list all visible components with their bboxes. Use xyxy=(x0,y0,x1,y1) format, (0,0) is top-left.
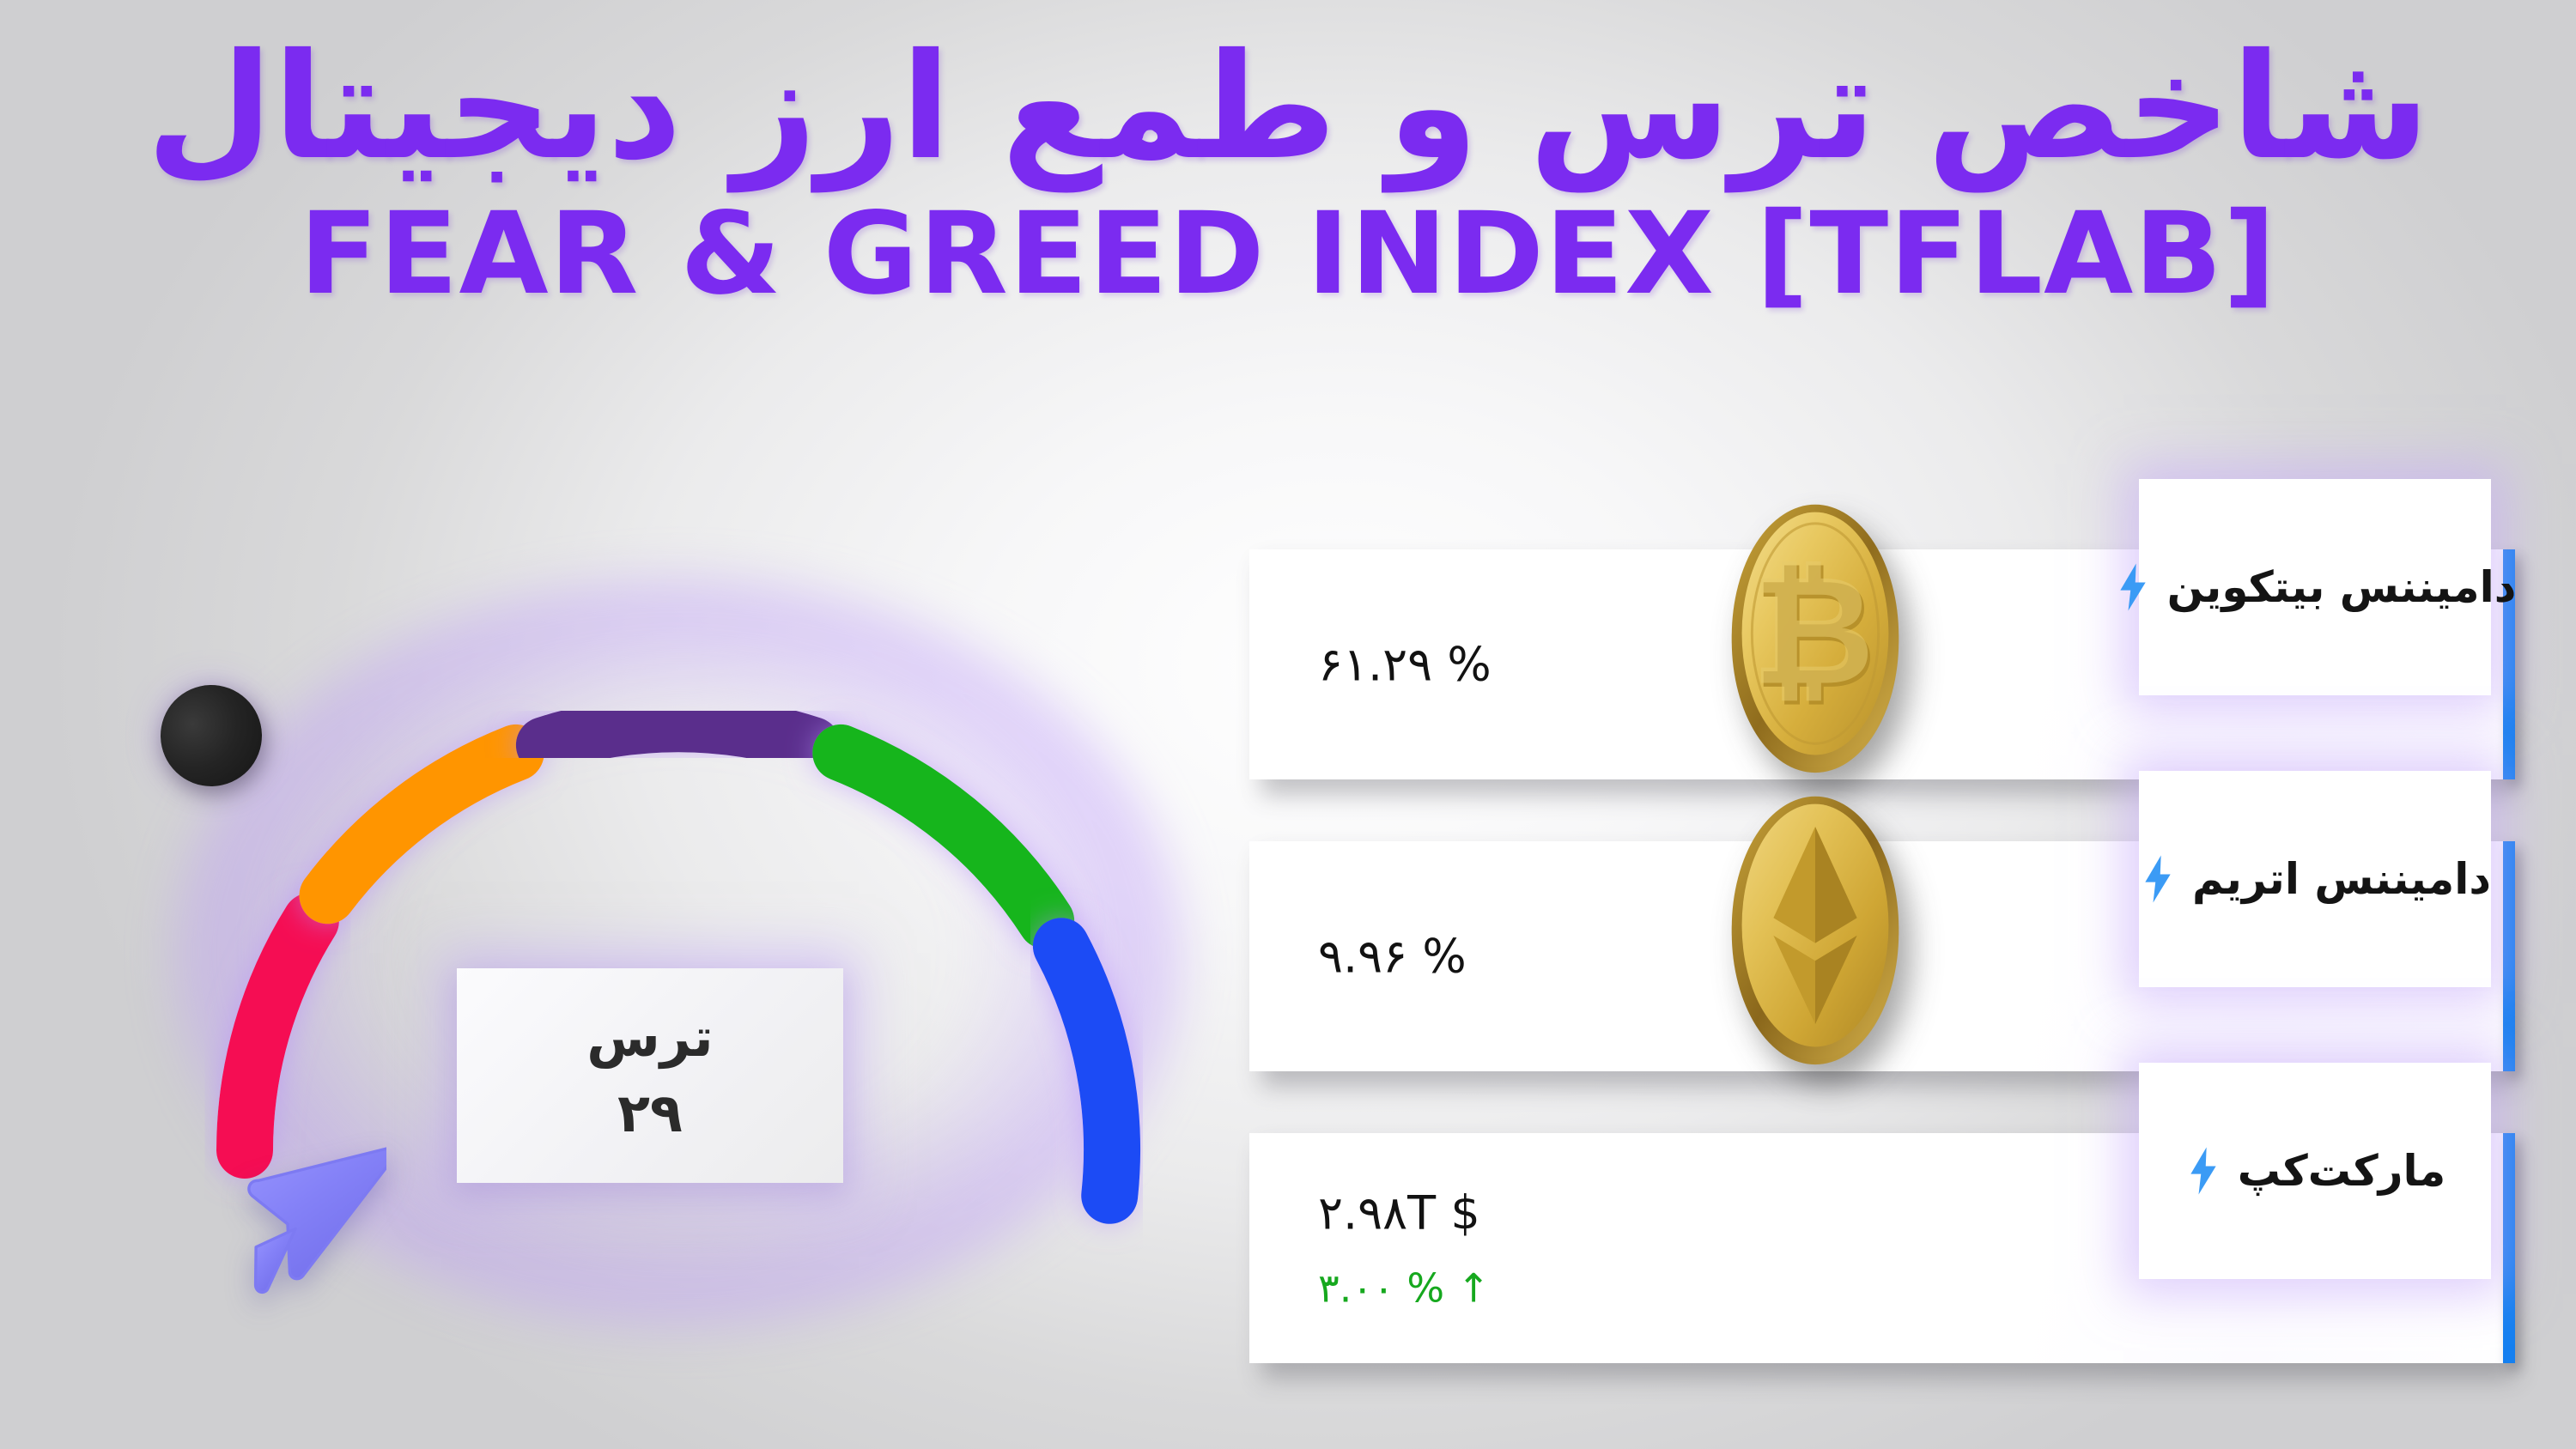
lightning-bolt-icon xyxy=(2114,561,2152,613)
lightning-bolt-icon xyxy=(2184,1145,2222,1197)
card-value-market-cap: ۲.۹۸T $ xyxy=(1318,1185,1490,1243)
gauge-segment-neutral xyxy=(544,724,812,745)
bitcoin-coin-icon: ₿ ₿ xyxy=(1720,494,1911,778)
gauge-sentiment-label: ترس xyxy=(586,1011,713,1064)
stat-card-eth-dominance[interactable]: دامیننس اتریم xyxy=(1249,841,2503,1071)
card-value-eth-dominance: ۹.۹۶ % xyxy=(1318,927,1467,985)
card-title-btc-dominance: دامیننس بیتکوین xyxy=(2167,562,2517,612)
gauge-segment-greed xyxy=(841,753,1046,921)
svg-text:₿: ₿ xyxy=(1751,543,1874,719)
card-change-market-cap: ۳.۰۰ % ↑ xyxy=(1318,1264,1490,1312)
card-title-eth-dominance: دامیننس اتریم xyxy=(2192,854,2491,904)
gauge-arc-svg xyxy=(69,532,1288,1391)
stats-card-list: دامیننس بیتکوین xyxy=(1249,549,2503,1363)
page-title-fa: شاخص ترس و طمع ارز دیجیتال xyxy=(0,24,2576,192)
infographic-canvas: شاخص ترس و طمع ارز دیجیتال FEAR & GREED … xyxy=(0,0,2576,1449)
card-values-btc-dominance: ۶۱.۲۹ % xyxy=(1318,635,1492,694)
card-values-eth-dominance: ۹.۹۶ % xyxy=(1318,927,1467,985)
gauge-value: ۲۹ xyxy=(617,1087,683,1140)
card-header-market-cap: مارکت‌کپ xyxy=(2139,1063,2491,1279)
ethereum-coin-icon xyxy=(1720,786,1911,1070)
stat-card-btc-dominance[interactable]: دامیننس بیتکوین xyxy=(1249,549,2503,779)
gauge-segment-fear xyxy=(328,753,516,895)
card-header-btc-dominance: دامیننس بیتکوین xyxy=(2139,479,2491,695)
stat-card-market-cap[interactable]: مارکت‌کپ ۲.۹۸T $ ۳.۰۰ % ↑ xyxy=(1249,1133,2503,1363)
gauge-reading-card: ترس ۲۹ xyxy=(457,968,843,1183)
card-value-btc-dominance: ۶۱.۲۹ % xyxy=(1318,635,1492,694)
fear-greed-gauge: ترس ۲۹ xyxy=(69,532,1288,1391)
gauge-segment-extreme-fear xyxy=(245,921,311,1150)
page-title-en: FEAR & GREED INDEX [TFLAB] xyxy=(0,197,2576,311)
gauge-segment-extreme-greed xyxy=(1061,946,1112,1196)
title-block: شاخص ترس و طمع ارز دیجیتال FEAR & GREED … xyxy=(0,24,2576,311)
card-title-market-cap: مارکت‌کپ xyxy=(2238,1146,2446,1196)
lightning-bolt-icon xyxy=(2139,853,2177,905)
card-values-market-cap: ۲.۹۸T $ ۳.۰۰ % ↑ xyxy=(1318,1185,1490,1313)
card-header-eth-dominance: دامیننس اتریم xyxy=(2139,771,2491,987)
